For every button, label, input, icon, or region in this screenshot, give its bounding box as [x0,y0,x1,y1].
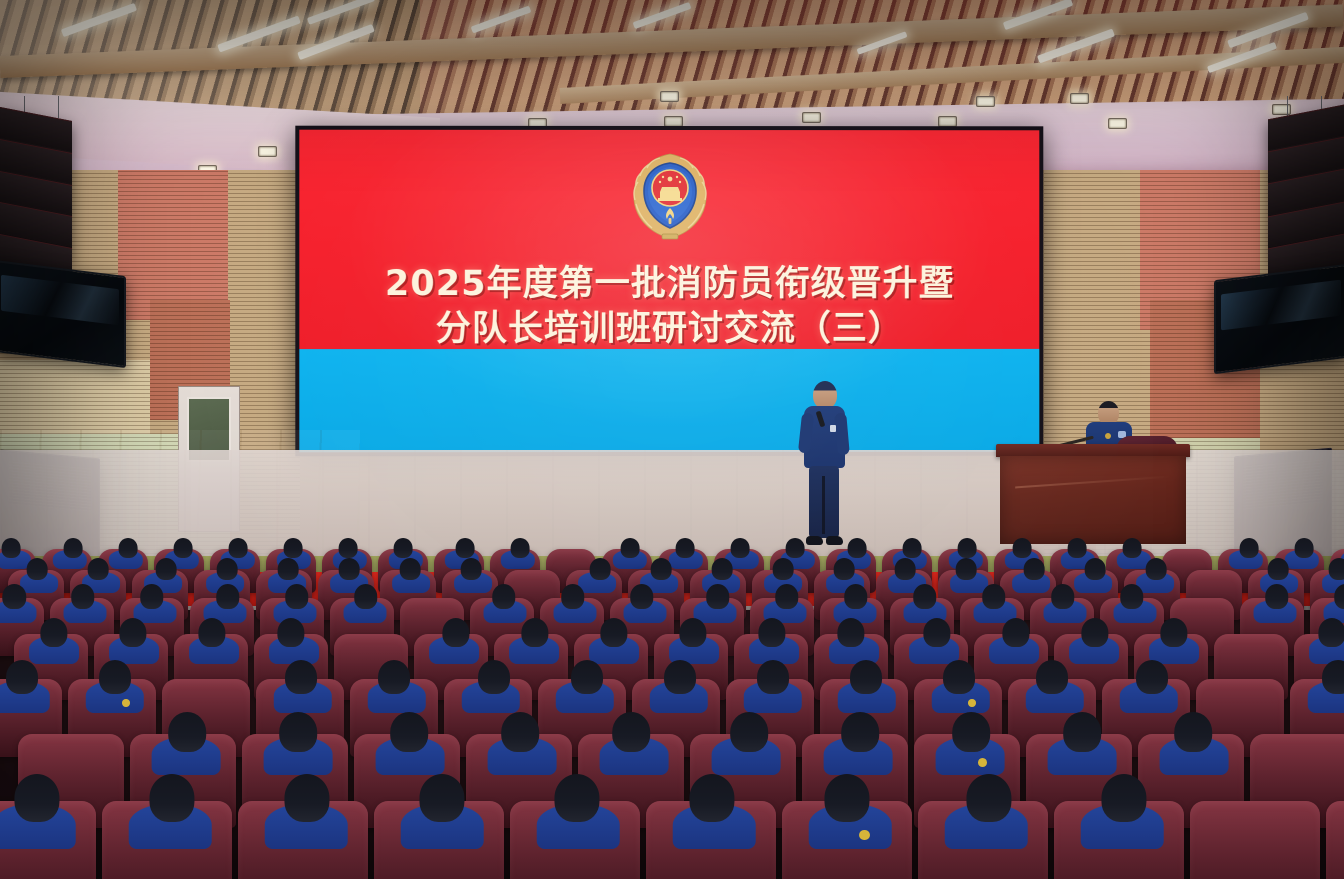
attendee-head [1068,538,1087,558]
seat-shading [1190,801,1320,879]
attendee-head [621,538,640,558]
presidium-desk [996,444,1190,546]
attendee-head [229,538,248,558]
attendee-head [824,774,869,822]
attendee-head [119,618,146,647]
attendee-head [706,584,730,609]
speaker-chest-badge [830,425,836,432]
attendee-head [958,538,977,558]
recessed-downlight [976,96,995,107]
auditorium-photo: 2025年度第一批消防员衔级晋升暨 分队长培训班研讨交流（三） [0,0,1344,879]
attendee-head [1024,558,1045,580]
attendee-head [354,584,378,609]
attendee-head [277,618,304,647]
blue-lower-area [299,349,1039,452]
attendee-shoulder-patch [122,699,129,706]
attendee-head [339,558,360,580]
attendee-head [88,558,109,580]
attendee-head [1101,774,1146,822]
attendee-head [775,584,799,609]
attendee-head [895,558,916,580]
attendee-head [982,584,1006,609]
attendee-head [689,774,734,822]
rigging-wire [58,96,59,118]
attendee-head [1013,538,1032,558]
attendee-head [786,538,805,558]
attendee-head [284,774,329,822]
attendee-head [664,660,696,694]
attendee-head [400,558,421,580]
attendee-head [6,660,38,694]
attendee-head [952,712,990,752]
attendee-head [1085,558,1106,580]
screen-reflection [1,275,119,325]
recessed-downlight [660,91,679,102]
attendee-head [174,538,193,558]
attendee-head [478,660,510,694]
attendee-head [1081,618,1108,647]
attendee-head [923,618,950,647]
attendee-head [419,774,464,822]
attendee-head [456,538,475,558]
attendee-head [571,660,603,694]
attendee-head [217,558,238,580]
banner-title-line-1: 2025年度第一批消防员衔级晋升暨 [299,262,1039,307]
led-video-wall: 2025年度第一批消防员衔级晋升暨 分队长培训班研讨交流（三） [295,126,1043,457]
attendee-head [1063,712,1101,752]
attendee-head [590,558,611,580]
uniformed-attendee [113,774,227,879]
attendee-head [600,618,627,647]
attendee-head [1120,584,1144,609]
attendee-head [1329,558,1344,580]
attendee-head [140,584,164,609]
attendee-head [390,712,428,752]
attendee-head [216,584,240,609]
attendee-head [285,584,309,609]
attendee-head [1322,660,1344,694]
attendee-head [730,712,768,752]
attendee-head [561,584,585,609]
recessed-downlight [802,112,821,123]
attendee-head [149,774,194,822]
attendee-head [757,660,789,694]
attendee-head [284,538,303,558]
attendee-head [14,774,59,822]
attendee-head [119,538,138,558]
attendee-head [1160,618,1187,647]
attendee-head [339,538,358,558]
right-line-array-speaker [1268,105,1344,264]
attendee-head [834,558,855,580]
attendee-head [844,584,868,609]
attendee-head [837,618,864,647]
uniformed-attendee [521,774,635,879]
attendee-head [394,538,413,558]
attendee-head [156,558,177,580]
attendee-head [378,660,410,694]
attendee-head [850,660,882,694]
attendee-head [773,558,794,580]
attendee-head [27,558,48,580]
attendee-head [461,558,482,580]
attendee-head [676,538,695,558]
attendee-head [913,584,937,609]
attendee-head [1334,584,1344,609]
attendee-head [442,618,469,647]
audience-row [0,774,1344,879]
attendee-head [285,660,317,694]
screen-reflection [1221,279,1341,330]
led-banner-title: 2025年度第一批消防员衔级晋升暨 分队长培训班研讨交流（三） [299,262,1039,352]
attendee-head [1146,558,1167,580]
speaker-trousers [809,466,839,538]
uniformed-attendee [1065,774,1179,879]
attendee-head [758,618,785,647]
attendee-head [99,660,131,694]
attendee-head [64,538,83,558]
attendee-head [71,584,95,609]
banner-title-line-2: 分队长培训班研讨交流（三） [299,307,1039,352]
attendee-head [1002,618,1029,647]
theater-seat[interactable] [1190,801,1320,879]
attendee-head [731,538,750,558]
attendee-head [1318,618,1344,647]
attendee-head [1136,660,1168,694]
attendee-head [1240,538,1259,558]
attendee-head [1051,584,1075,609]
speaker-right-arm [834,413,850,456]
attendee-head [40,618,67,647]
attendee-head [712,558,733,580]
attendee-head [198,618,225,647]
right-wall-display [1214,264,1344,374]
attendee-head [1295,538,1314,558]
attendee-head [278,558,299,580]
attendee-head [1268,558,1289,580]
standing-speaker-with-microphone [798,381,850,551]
attendee-head [651,558,672,580]
attendee-head [501,712,539,752]
attendee-head [1123,538,1142,558]
left-wall-display [0,260,126,368]
attendee-head [511,538,530,558]
china-fire-rescue-emblem [622,146,718,246]
attendee-head [1265,584,1289,609]
attendee-head [966,774,1011,822]
uniformed-attendee [793,774,907,879]
attendee-head [2,538,21,558]
uniformed-attendee [929,774,1043,879]
attendee-head [612,712,650,752]
attendee-head [279,712,317,752]
seated-audience [0,536,1344,879]
attendee-shoulder-patch [968,699,975,706]
uniformed-attendee [1337,774,1344,879]
attendee-shoulder-patch [859,830,870,841]
attendee-head [521,618,548,647]
uniformed-attendee [657,774,771,879]
attendee-head [1036,660,1068,694]
led-screen-surface: 2025年度第一批消防员衔级晋升暨 分队长培训班研讨交流（三） [299,130,1039,453]
attendee-head [554,774,599,822]
attendee-head [841,712,879,752]
left-line-array-speaker [0,107,72,263]
speaker-head-with-cap [813,381,837,409]
attendee-head [492,584,516,609]
rigging-wire [1287,96,1288,116]
uniformed-attendee [0,774,91,879]
attendee-head [848,538,867,558]
attendee-head [168,712,206,752]
officer-chest-emblem [1105,433,1111,439]
uniformed-attendee [385,774,499,879]
attendee-head [903,538,922,558]
attendee-head [1174,712,1212,752]
attendee-head [2,584,26,609]
uniformed-attendee [249,774,363,879]
attendee-head [956,558,977,580]
attendee-head [679,618,706,647]
attendee-head [630,584,654,609]
attendee-head [943,660,975,694]
desk-front-panel [1000,456,1186,544]
